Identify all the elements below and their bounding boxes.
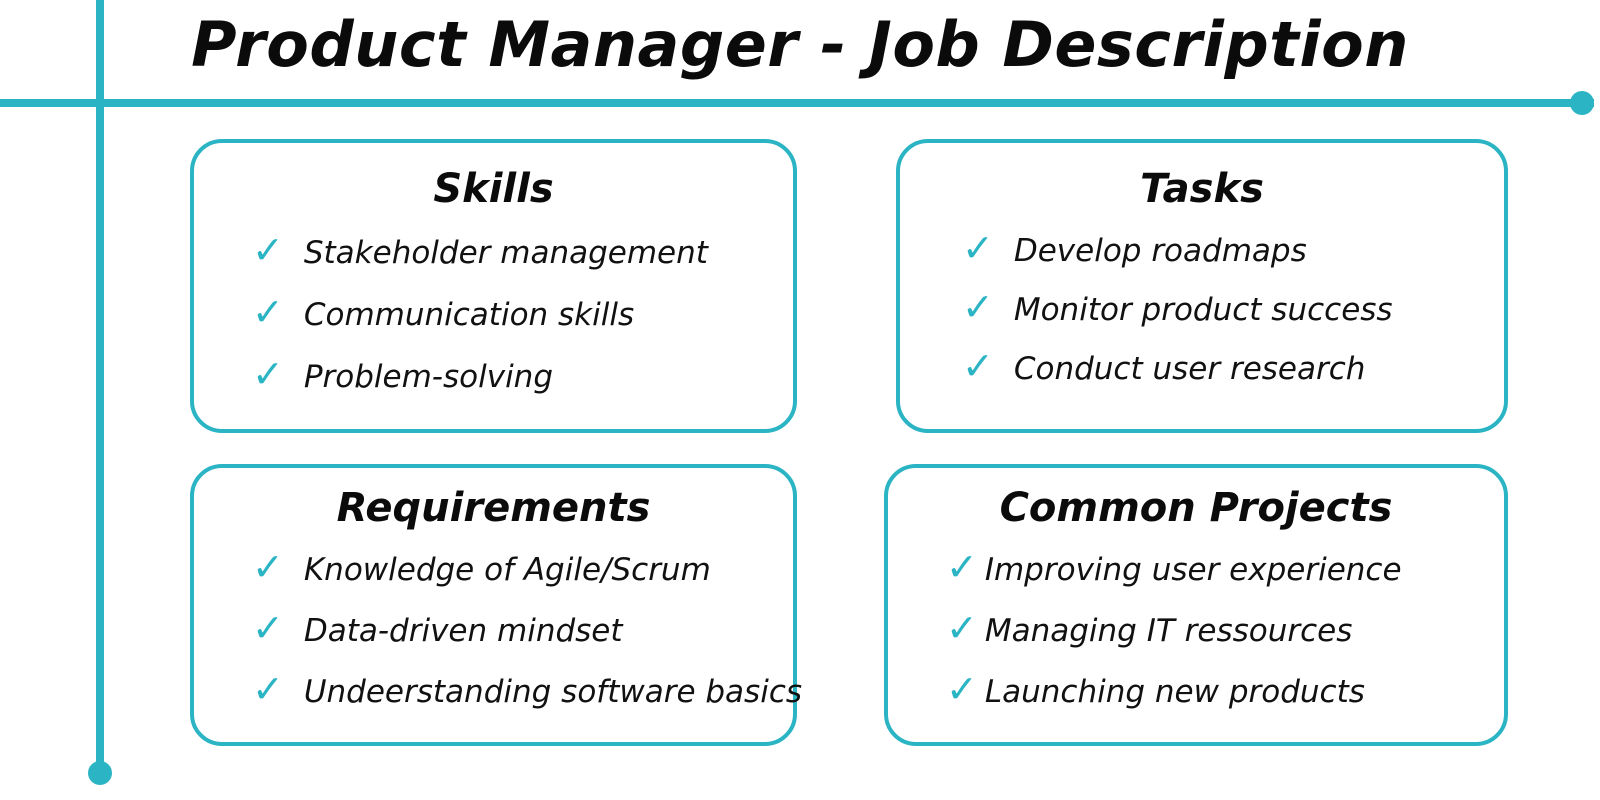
check-icon: ✓ xyxy=(252,548,284,586)
list-item-label: Communication skills xyxy=(304,300,634,331)
card-heading-requirements: Requirements xyxy=(194,488,793,528)
list-item: ✓ Managing IT ressources xyxy=(946,609,1504,647)
list-item: ✓ Knowledge of Agile/Scrum xyxy=(252,548,793,586)
list-item: ✓ Launching new products xyxy=(946,670,1504,708)
check-icon: ✓ xyxy=(252,293,284,331)
list-item: ✓ Develop roadmaps xyxy=(962,229,1504,267)
list-item-label: Conduct user research xyxy=(1014,354,1366,385)
list-item: ✓ Improving user experience xyxy=(946,548,1504,586)
list-item-label: Improving user experience xyxy=(985,555,1402,586)
list-item: ✓ Stakeholder management xyxy=(252,231,793,269)
list-item-label: Undeerstanding software basics xyxy=(304,677,802,708)
list-item-label: Problem-solving xyxy=(304,362,553,393)
horizontal-accent-line xyxy=(0,99,1594,107)
list-item: ✓ Data-driven mindset xyxy=(252,609,793,647)
list-item: ✓ Communication skills xyxy=(252,293,793,331)
check-icon: ✓ xyxy=(962,288,994,326)
list-item: ✓ Conduct user research xyxy=(962,347,1504,385)
card-list-common-projects: ✓ Improving user experience ✓ Managing I… xyxy=(888,548,1504,708)
check-icon: ✓ xyxy=(252,609,284,647)
check-icon: ✓ xyxy=(962,347,994,385)
check-icon: ✓ xyxy=(946,548,978,586)
card-heading-tasks: Tasks xyxy=(900,169,1504,209)
card-heading-skills: Skills xyxy=(194,169,793,209)
page-title: Product Manager - Job Description xyxy=(0,8,1600,81)
list-item: ✓ Monitor product success xyxy=(962,288,1504,326)
check-icon: ✓ xyxy=(252,355,284,393)
list-item: ✓ Problem-solving xyxy=(252,355,793,393)
card-list-skills: ✓ Stakeholder management ✓ Communication… xyxy=(194,231,793,393)
accent-dot-right xyxy=(1570,91,1594,115)
list-item-label: Monitor product success xyxy=(1014,295,1393,326)
accent-dot-bottom xyxy=(88,761,112,785)
list-item-label: Knowledge of Agile/Scrum xyxy=(304,555,711,586)
card-skills: Skills ✓ Stakeholder management ✓ Commun… xyxy=(190,139,797,433)
check-icon: ✓ xyxy=(252,670,284,708)
card-requirements: Requirements ✓ Knowledge of Agile/Scrum … xyxy=(190,464,797,746)
list-item-label: Launching new products xyxy=(985,677,1365,708)
list-item: ✓ Undeerstanding software basics xyxy=(252,670,793,708)
card-tasks: Tasks ✓ Develop roadmaps ✓ Monitor produ… xyxy=(896,139,1508,433)
card-common-projects: Common Projects ✓ Improving user experie… xyxy=(884,464,1508,746)
check-icon: ✓ xyxy=(252,231,284,269)
list-item-label: Data-driven mindset xyxy=(304,616,623,647)
card-list-tasks: ✓ Develop roadmaps ✓ Monitor product suc… xyxy=(900,229,1504,385)
check-icon: ✓ xyxy=(946,609,978,647)
vertical-accent-line xyxy=(96,0,104,775)
list-item-label: Managing IT ressources xyxy=(985,616,1353,647)
infographic-canvas: Product Manager - Job Description Skills… xyxy=(0,0,1600,800)
check-icon: ✓ xyxy=(946,670,978,708)
check-icon: ✓ xyxy=(962,229,994,267)
list-item-label: Stakeholder management xyxy=(304,238,708,269)
card-list-requirements: ✓ Knowledge of Agile/Scrum ✓ Data-driven… xyxy=(194,548,793,708)
list-item-label: Develop roadmaps xyxy=(1014,236,1307,267)
card-heading-common-projects: Common Projects xyxy=(888,488,1504,528)
